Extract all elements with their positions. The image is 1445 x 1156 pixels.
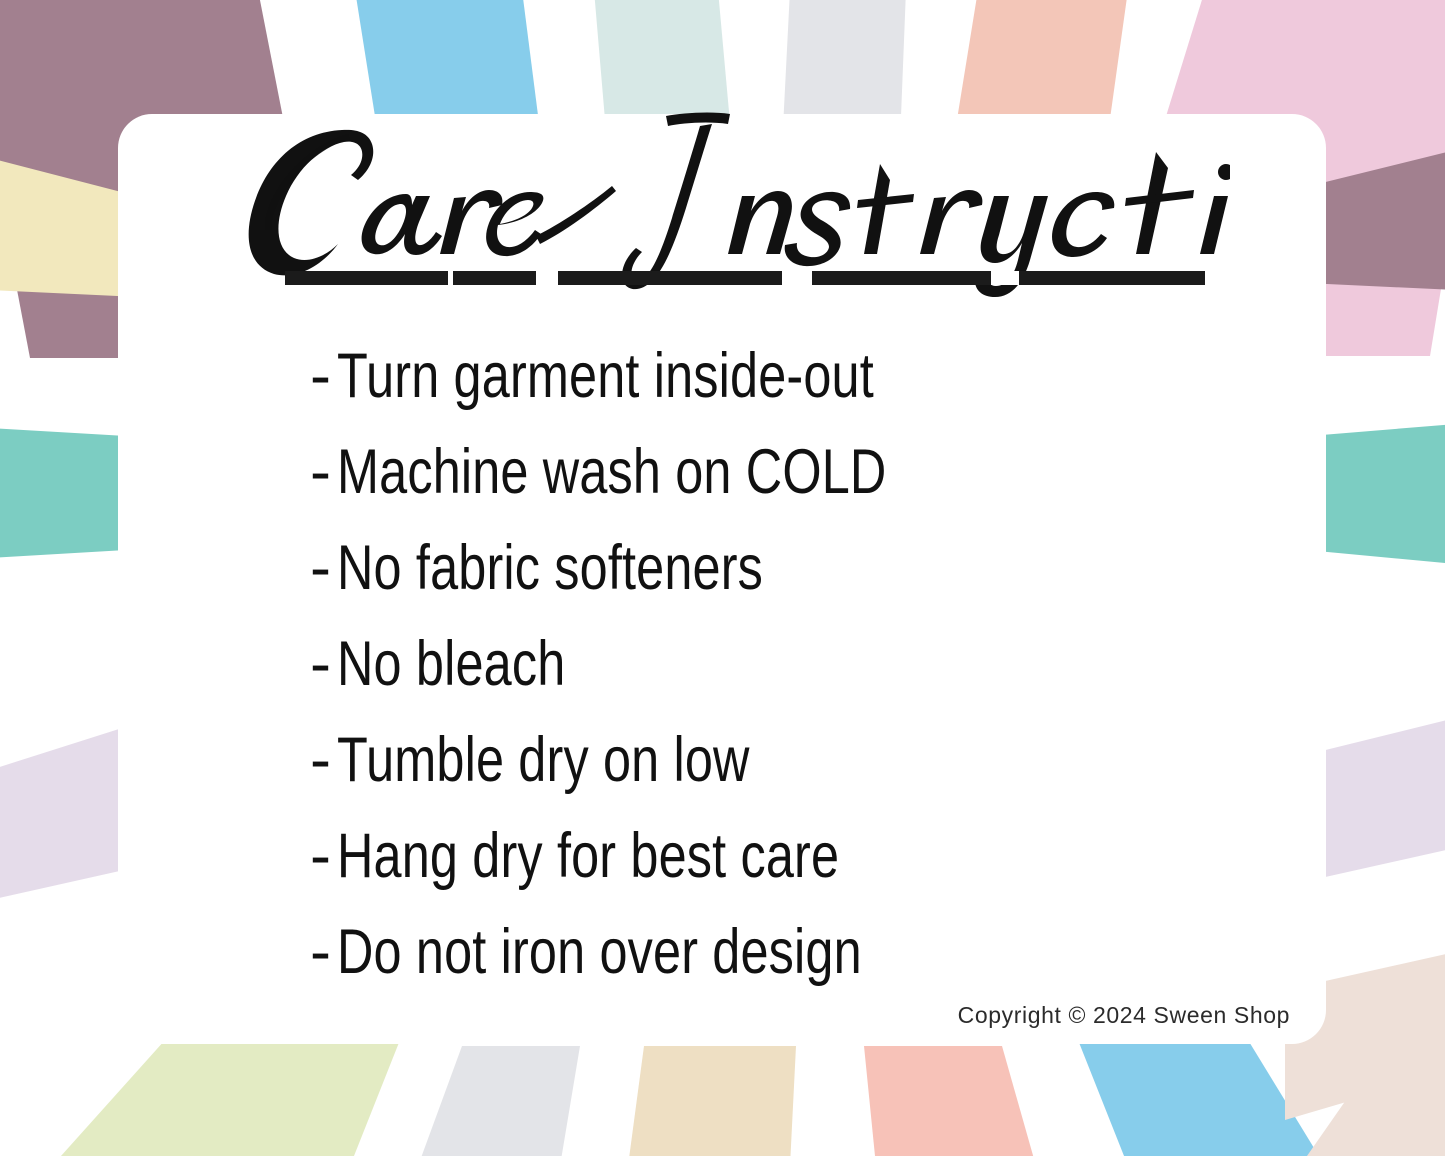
underline-nick bbox=[782, 271, 812, 285]
ray-bottom-salmon bbox=[864, 1046, 1036, 1156]
instruction-dash: - bbox=[310, 724, 331, 796]
instruction-line: -No bleach bbox=[118, 616, 1326, 712]
instruction-dash: - bbox=[310, 628, 331, 700]
instruction-text: Hang dry for best care bbox=[337, 820, 839, 892]
care-instructions-card-image: Care Instructions bbox=[0, 0, 1445, 1156]
page-title: Care Instructions bbox=[230, 108, 1230, 298]
title-underline bbox=[285, 271, 1205, 285]
instructions-list: -Turn garment inside-out-Machine wash on… bbox=[118, 328, 1326, 1000]
title-block: Care Instructions bbox=[118, 114, 1326, 314]
instruction-text: Tumble dry on low bbox=[337, 724, 750, 796]
instruction-dash: - bbox=[310, 340, 331, 412]
instruction-dash: - bbox=[310, 916, 331, 988]
ray-bottom-lime bbox=[52, 1040, 400, 1156]
ray-bottom-gray bbox=[418, 1046, 580, 1156]
underline-nick bbox=[536, 271, 558, 285]
instruction-line: -Do not iron over design bbox=[118, 904, 1326, 1000]
instruction-dash: - bbox=[310, 820, 331, 892]
instruction-text: No bleach bbox=[337, 628, 565, 700]
ray-bottom-wheat bbox=[628, 1046, 796, 1156]
instruction-line: -Machine wash on COLD bbox=[118, 424, 1326, 520]
instruction-text: No fabric softeners bbox=[337, 532, 763, 604]
instruction-dash: - bbox=[310, 532, 331, 604]
underline-nick bbox=[991, 271, 1019, 285]
instruction-text: Turn garment inside-out bbox=[337, 340, 874, 412]
instruction-dash: - bbox=[310, 436, 331, 508]
underline-nick bbox=[448, 271, 453, 285]
instructions-card: Care Instructions bbox=[118, 114, 1326, 1044]
instruction-line: -Turn garment inside-out bbox=[118, 328, 1326, 424]
instruction-line: -Hang dry for best care bbox=[118, 808, 1326, 904]
instruction-text: Machine wash on COLD bbox=[337, 436, 886, 508]
instruction-text: Do not iron over design bbox=[337, 916, 862, 988]
instruction-line: -Tumble dry on low bbox=[118, 712, 1326, 808]
copyright-text: Copyright © 2024 Sween Shop bbox=[118, 1002, 1326, 1029]
instruction-line: -No fabric softeners bbox=[118, 520, 1326, 616]
